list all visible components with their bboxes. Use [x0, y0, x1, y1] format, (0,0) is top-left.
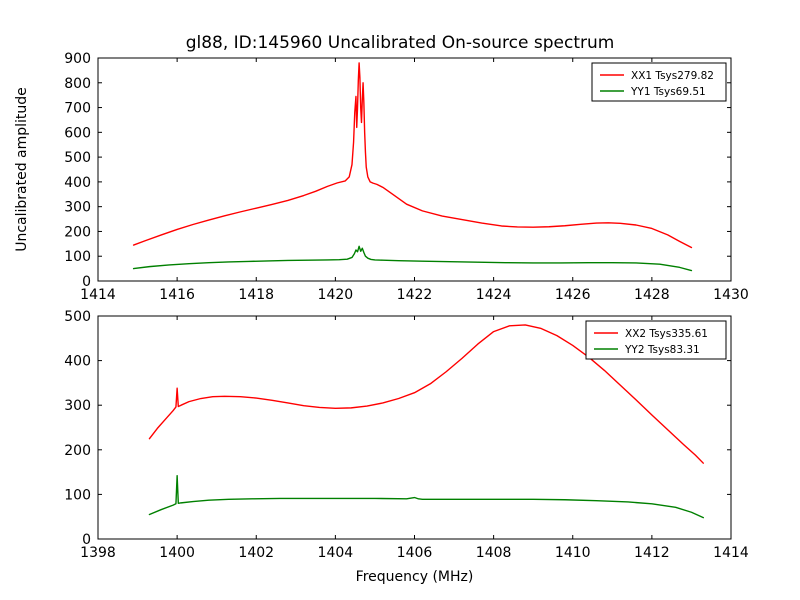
- x-axis-label: Frequency (MHz): [356, 569, 474, 585]
- top-xtick-label: 1428: [634, 287, 670, 303]
- bottom-xtick-label: 1402: [238, 545, 274, 561]
- top-ytick-label: 600: [64, 125, 91, 141]
- top-ytick-label: 400: [64, 175, 91, 191]
- bottom-ytick-label: 0: [82, 532, 91, 548]
- top-xtick-label: 1430: [713, 287, 749, 303]
- top-ytick-label: 200: [64, 224, 91, 240]
- top-panel: 1414141614181420142214241426142814300100…: [14, 51, 749, 303]
- bottom-xtick-label: 1404: [318, 545, 354, 561]
- bottom-legend-label-0: XX2 Tsys335.61: [625, 328, 708, 340]
- page-title: gl88, ID:145960 Uncalibrated On-source s…: [186, 33, 615, 53]
- bottom-legend-label-1: YY2 Tsys83.31: [624, 344, 700, 356]
- figure-canvas: gl88, ID:145960 Uncalibrated On-source s…: [0, 0, 800, 600]
- top-xtick-label: 1416: [159, 287, 195, 303]
- bottom-ytick-label: 500: [64, 309, 91, 325]
- top-ytick-label: 800: [64, 76, 91, 92]
- top-ytick-label: 700: [64, 101, 91, 117]
- bottom-xtick-label: 1406: [397, 545, 433, 561]
- top-legend-label-0: XX1 Tsys279.82: [631, 70, 714, 82]
- top-xtick-label: 1420: [318, 287, 354, 303]
- bottom-ytick-label: 200: [64, 443, 91, 459]
- bottom-xtick-label: 1414: [713, 545, 749, 561]
- top-xtick-label: 1422: [397, 287, 433, 303]
- bottom-ytick-label: 300: [64, 398, 91, 414]
- bottom-xtick-label: 1408: [476, 545, 512, 561]
- bottom-xtick-label: 1410: [555, 545, 591, 561]
- top-ytick-label: 300: [64, 200, 91, 216]
- spectrum-plot: gl88, ID:145960 Uncalibrated On-source s…: [0, 0, 800, 600]
- top-ytick-label: 500: [64, 150, 91, 166]
- top-ytick-label: 0: [82, 274, 91, 290]
- bottom-xtick-label: 1412: [634, 545, 670, 561]
- top-legend-label-1: YY1 Tsys69.51: [630, 86, 706, 98]
- top-xtick-label: 1418: [238, 287, 274, 303]
- top-xtick-label: 1426: [555, 287, 591, 303]
- top-ytick-label: 900: [64, 51, 91, 67]
- bottom-ytick-label: 400: [64, 354, 91, 370]
- top-legend: XX1 Tsys279.82YY1 Tsys69.51: [592, 63, 726, 101]
- top-ytick-label: 100: [64, 249, 91, 265]
- bottom-ytick-label: 100: [64, 487, 91, 503]
- y-axis-label: Uncalibrated amplitude: [14, 87, 30, 252]
- bottom-xtick-label: 1400: [159, 545, 195, 561]
- bottom-legend: XX2 Tsys335.61YY2 Tsys83.31: [586, 321, 726, 359]
- top-xtick-label: 1424: [476, 287, 512, 303]
